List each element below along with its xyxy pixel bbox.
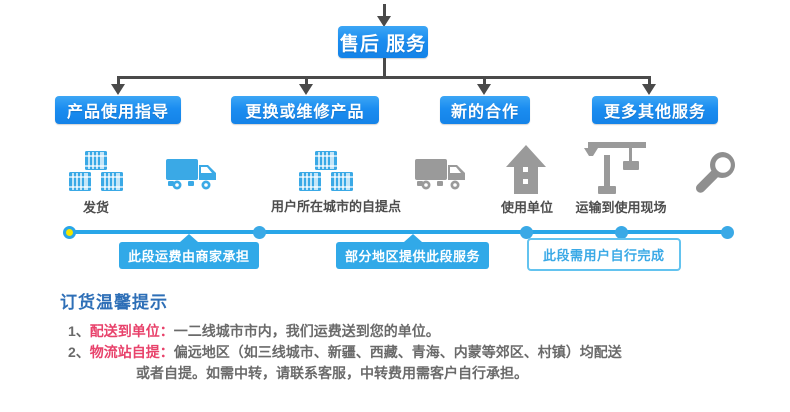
branch-arrow-1-icon <box>111 84 125 95</box>
note-item-2-continued: 或者自提。如需中转，请联系客服，中转费用需客户自行承担。 <box>136 363 760 384</box>
note-2-keyword: 物流站自提： <box>90 344 174 360</box>
note-item-1: 1、配送到单位：一二线城市市内，我们运费送到您的单位。 <box>68 321 760 342</box>
order-notes-section: 订货温馨提示 1、配送到单位：一二线城市市内，我们运费送到您的单位。 2、物流站… <box>60 288 760 384</box>
timeline-track <box>66 230 728 234</box>
node-new-cooperation[interactable]: 新的合作 <box>440 96 530 124</box>
tooltip-nub-2-icon <box>404 234 422 242</box>
branch-arrow-4-icon <box>642 84 656 95</box>
pickup-point-boxes-icon <box>298 150 354 194</box>
timeline-tooltip-user-self: 此段需用户自行完成 <box>527 238 681 271</box>
node-more-other-services[interactable]: 更多其他服务 <box>592 96 718 124</box>
branch-arrow-3-icon <box>477 84 491 95</box>
crane-icon <box>582 142 652 194</box>
tooltip-nub-1-icon <box>180 234 198 242</box>
timeline-dot-2[interactable] <box>253 226 266 239</box>
note-2-number: 2、 <box>68 344 90 360</box>
truck-grey-icon <box>415 157 469 191</box>
note-item-2: 2、物流站自提：偏远地区（如三线城市、新疆、西藏、青海、内蒙等郊区、村镇）均配送 <box>68 342 760 363</box>
house-icon <box>505 145 547 195</box>
node-root[interactable]: 售后 服务 <box>338 26 428 58</box>
notes-heading: 订货温馨提示 <box>60 288 760 313</box>
after-sales-service-infographic: 售后 服务 产品使用指导 更换或维修产品 新的合作 更多其他服务 <box>0 0 790 412</box>
truck-blue-icon <box>166 157 220 191</box>
tooltip-text-2: 部分地区提供此段服务 <box>345 249 480 264</box>
timeline-dot-start[interactable] <box>63 226 76 239</box>
stage-label-shipping: 发货 <box>58 197 134 216</box>
tooltip-text-1: 此段运费由商家承担 <box>128 249 250 264</box>
note-1-keyword: 配送到单位： <box>90 323 174 339</box>
node-product-usage-guide[interactable]: 产品使用指导 <box>55 96 181 124</box>
stage-label-transport-to-site: 运输到使用现场 <box>567 197 675 216</box>
wrench-icon <box>694 150 738 194</box>
timeline-tooltip-merchant-pays: 此段运费由商家承担 <box>119 242 259 269</box>
note-1-number: 1、 <box>68 323 90 339</box>
timeline-tooltip-partial-area: 部分地区提供此段服务 <box>336 242 489 269</box>
tooltip-text-3: 此段需用户自行完成 <box>543 248 665 263</box>
note-1-body: 一二线城市市内，我们运费送到您的单位。 <box>174 323 440 339</box>
shipping-boxes-icon <box>68 150 124 194</box>
stage-label-pickup-point: 用户所在城市的自提点 <box>248 196 424 215</box>
timeline-dot-5[interactable] <box>721 226 734 239</box>
note-2-body: 偏远地区（如三线城市、新疆、西藏、青海、内蒙等郊区、村镇）均配送 <box>174 344 622 360</box>
flow-bus-line <box>118 76 651 79</box>
branch-arrow-2-icon <box>299 84 313 95</box>
stage-label-using-unit: 使用单位 <box>489 197 565 216</box>
node-replace-or-repair[interactable]: 更换或维修产品 <box>231 96 379 124</box>
